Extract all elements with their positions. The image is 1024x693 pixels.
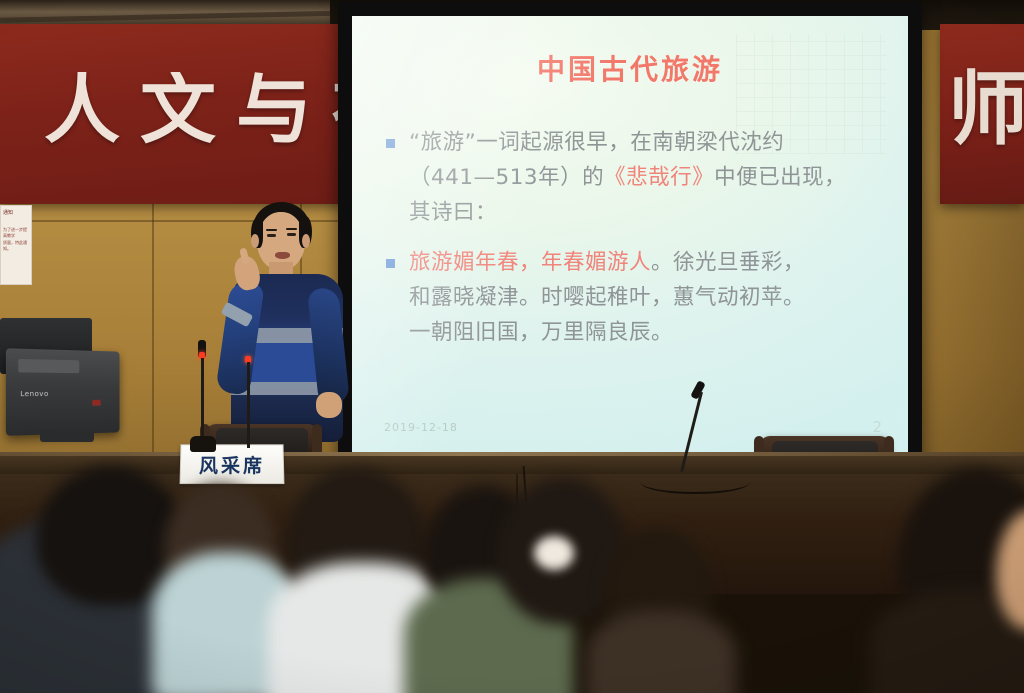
slide-title: 中国古代旅游 <box>352 48 908 88</box>
slide-date: 2019-12-18 <box>384 421 458 434</box>
computer-monitor: Lenovo <box>6 348 120 436</box>
text-run: 旅游媚年春，年春媚游人 <box>409 250 651 275</box>
text-run: 一朝阻旧国，万里隔良辰。 <box>409 320 673 345</box>
presenter-ear-left <box>251 234 259 248</box>
text-run: “旅游”一词起源很早，在南朝梁代沈约 <box>409 130 784 155</box>
presenter-eye-right <box>287 233 296 236</box>
text-run: （441—513年）的 <box>409 165 604 190</box>
square-bullet-icon <box>386 139 395 148</box>
slide-body: “旅游”一词起源很早，在南朝梁代沈约（441—513年）的《悲哉行》中便已出现，… <box>386 126 884 367</box>
slide-bullet-1: “旅游”一词起源很早，在南朝梁代沈约（441—513年）的《悲哉行》中便已出现，… <box>386 126 884 230</box>
square-bullet-icon <box>386 259 395 268</box>
presenter <box>213 196 343 456</box>
b2-line-1: 旅游媚年春，年春媚游人。徐光旦垂彩， <box>409 246 884 281</box>
slide-bullet-2: 旅游媚年春，年春媚游人。徐光旦垂彩，和露晓凝津。时嘤起稚叶，蕙气动初苹。一朝阻旧… <box>386 246 884 350</box>
b1-line-3: 其诗曰： <box>409 196 884 231</box>
banner-text-right: 师 <box>948 70 1024 150</box>
projection-screen: 中国古代旅游 “旅游”一词起源很早，在南朝梁代沈约（441—513年）的《悲哉行… <box>352 16 908 452</box>
text-run: 其诗曰： <box>409 200 497 225</box>
podium-cable-loop <box>640 470 750 494</box>
presenter-ear-right <box>302 234 310 248</box>
b1-line-1: “旅游”一词起源很早，在南朝梁代沈约 <box>409 126 884 161</box>
poster-line-2: 质量，特此通知。 <box>3 240 29 253</box>
monitor-stand <box>40 430 94 442</box>
podium-panel-seam <box>516 474 518 584</box>
presenter-mouth <box>275 252 290 259</box>
slide-page-number: 2 <box>872 418 882 436</box>
banner-text-left: 人文与社 <box>44 72 364 148</box>
monitor-indicator <box>92 400 100 406</box>
text-run: 《悲哉行》 <box>604 165 714 190</box>
poster-title: 通知 <box>3 209 29 217</box>
b1-line-2: （441—513年）的《悲哉行》中便已出现， <box>409 161 884 196</box>
podium-desk-edge <box>0 452 1024 456</box>
podium-desk-front <box>0 474 1024 594</box>
text-run: 中便已出现， <box>714 165 846 190</box>
presenter-eye-left <box>267 234 276 237</box>
monitor-vent <box>18 359 79 373</box>
nameplate-text: 风采席 <box>199 451 265 478</box>
lecture-hall-scene: 人文与社 师 通知 为了进一步提高教学 质量，特此通知。 中国古代旅游 “旅游”… <box>0 0 1024 693</box>
b2-line-3: 一朝阻旧国，万里隔良辰。 <box>409 316 884 351</box>
b2-line-2: 和露晓凝津。时嘤起稚叶，蕙气动初苹。 <box>409 281 884 316</box>
presenter-brow-left <box>266 229 277 231</box>
slide-bullet-1-text: “旅游”一词起源很早，在南朝梁代沈约（441—513年）的《悲哉行》中便已出现，… <box>409 126 884 230</box>
text-run: 。徐光旦垂彩， <box>651 250 805 275</box>
wall-notice-poster: 通知 为了进一步提高教学 质量，特此通知。 <box>0 205 32 285</box>
slide-bullet-2-text: 旅游媚年春，年春媚游人。徐光旦垂彩，和露晓凝津。时嘤起稚叶，蕙气动初苹。一朝阻旧… <box>409 246 884 350</box>
monitor-brand-label: Lenovo <box>20 390 48 398</box>
text-run: 和露晓凝津。时嘤起稚叶，蕙气动初苹。 <box>409 285 805 310</box>
presenter-lower-hand <box>316 392 342 418</box>
presenter-brow-right <box>286 228 297 230</box>
poster-line-1: 为了进一步提高教学 <box>3 227 29 240</box>
